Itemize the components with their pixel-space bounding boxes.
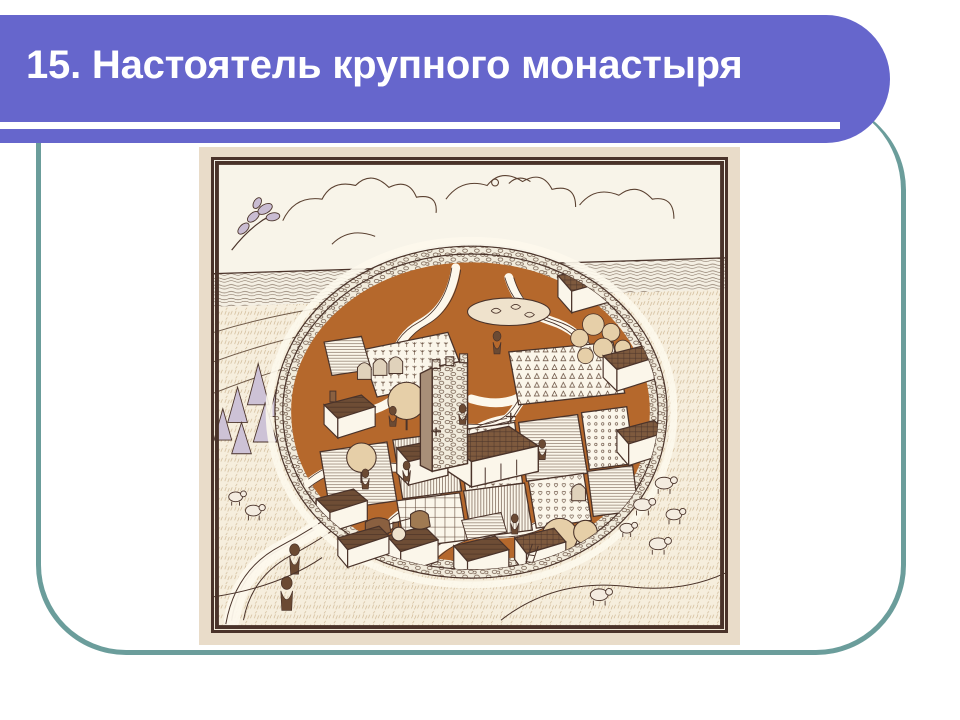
title-underline [0,122,840,129]
monastery-illustration [211,157,728,633]
monastery-figure [199,147,740,645]
page-title: 15. Настоятель крупного монастыря [26,41,743,89]
